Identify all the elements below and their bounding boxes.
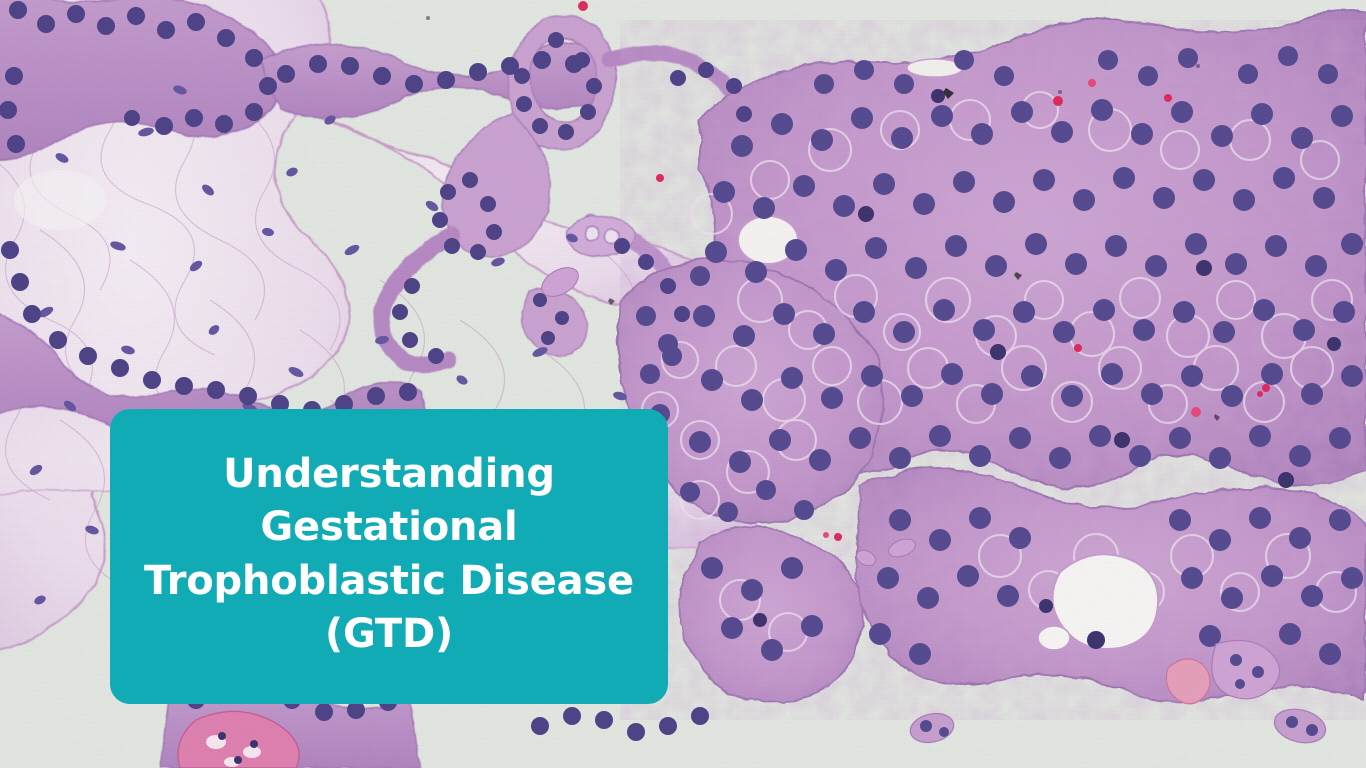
page-title: Understanding Gestational Trophoblastic … (144, 448, 634, 661)
title-card: Understanding Gestational Trophoblastic … (110, 409, 668, 704)
slide-canvas: Understanding Gestational Trophoblastic … (0, 0, 1366, 768)
